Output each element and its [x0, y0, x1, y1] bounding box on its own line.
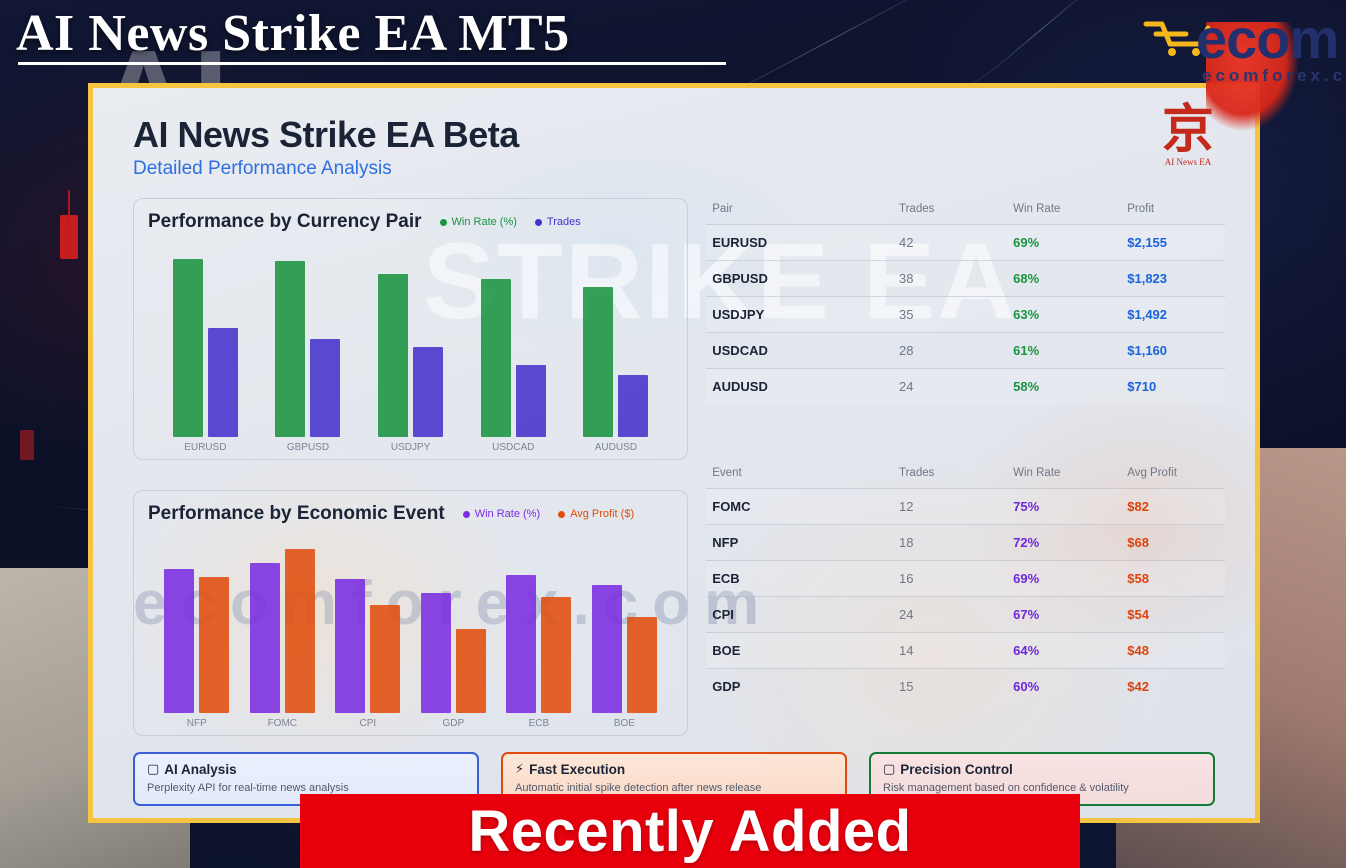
bar: [456, 629, 486, 713]
target-icon: ▢: [883, 762, 895, 777]
bar-group: [250, 531, 315, 713]
bar: [370, 605, 400, 713]
brand-domain: ecomforex.com: [1202, 66, 1346, 86]
table-row[interactable]: USDCAD2861%$1,160: [706, 333, 1225, 369]
cell-trades: 15: [893, 669, 1007, 705]
brand-wordmark: ecom: [1196, 6, 1338, 71]
cell-event: NFP: [706, 525, 893, 561]
cell-trades: 28: [893, 333, 1007, 369]
cell-avg-profit: $82: [1121, 489, 1225, 525]
bar: [592, 585, 622, 713]
cell-event: BOE: [706, 633, 893, 669]
bar: [275, 261, 305, 437]
dashboard-subtitle: Detailed Performance Analysis: [133, 158, 1225, 180]
tables-column: PairTradesWin RateProfit EURUSD4269%$2,1…: [706, 198, 1225, 736]
promo-title-underline: [18, 62, 726, 65]
bar-group: [481, 239, 546, 437]
legend-label: Win Rate (%): [475, 508, 540, 520]
economic-event-chart-title: Performance by Economic Event: [148, 503, 445, 525]
cell-win-rate: 75%: [1007, 489, 1121, 525]
bar: [164, 569, 194, 713]
bar-group: [421, 531, 486, 713]
lightning-bolt-icon: ⚡: [515, 762, 524, 777]
charts-column: Performance by Currency Pair Win Rate (%…: [133, 198, 688, 736]
cell-avg-profit: $48: [1121, 633, 1225, 669]
legend-dot-icon: [463, 511, 470, 518]
cell-win-rate: 67%: [1007, 597, 1121, 633]
legend-item-avg-profit: Avg Profit ($): [558, 508, 634, 520]
bar-group: [583, 239, 648, 437]
column-header: Win Rate: [1007, 462, 1121, 489]
bar: [618, 375, 648, 437]
promo-page: AI NEWS STRIKE EA AI News Strike EA MT5 …: [0, 0, 1346, 868]
feature-title: ▢AI Analysis: [147, 762, 465, 777]
bar: [310, 339, 340, 437]
bar-group: [335, 531, 400, 713]
axis-tick-label: CPI: [333, 718, 403, 729]
cell-avg-profit: $54: [1121, 597, 1225, 633]
cell-pair: USDCAD: [706, 333, 893, 369]
cell-event: FOMC: [706, 489, 893, 525]
bar-group: [164, 531, 229, 713]
axis-tick-label: GBPUSD: [273, 442, 343, 453]
cell-win-rate: 63%: [1007, 297, 1121, 333]
bar: [506, 575, 536, 713]
currency-pair-bars: [148, 239, 673, 437]
legend-item-win-rate: Win Rate (%): [440, 216, 517, 228]
cell-win-rate: 61%: [1007, 333, 1121, 369]
cell-avg-profit: $42: [1121, 669, 1225, 705]
brain-icon: ▢: [147, 762, 159, 777]
table-row[interactable]: FOMC1275%$82: [706, 489, 1225, 525]
table-row[interactable]: CPI2467%$54: [706, 597, 1225, 633]
bar-group: [173, 239, 238, 437]
economic-event-bars: [148, 531, 673, 713]
column-header: Event: [706, 462, 893, 489]
cell-event: GDP: [706, 669, 893, 705]
column-header: Avg Profit: [1121, 462, 1225, 489]
feature-title: ⚡Fast Execution: [515, 762, 833, 777]
cell-win-rate: 69%: [1007, 225, 1121, 261]
bar: [583, 287, 613, 437]
cell-pair: USDJPY: [706, 297, 893, 333]
bar: [541, 597, 571, 713]
currency-pair-chart-card: Performance by Currency Pair Win Rate (%…: [133, 198, 688, 460]
table-row[interactable]: USDJPY3563%$1,492: [706, 297, 1225, 333]
cell-avg-profit: $58: [1121, 561, 1225, 597]
economic-event-table: EventTradesWin RateAvg Profit FOMC1275%$…: [706, 462, 1225, 704]
column-header: Pair: [706, 198, 893, 225]
column-header: Profit: [1121, 198, 1225, 225]
feature-title: ▢Precision Control: [883, 762, 1201, 777]
axis-tick-label: EURUSD: [170, 442, 240, 453]
bar: [173, 259, 203, 437]
bar-group: [275, 239, 340, 437]
legend-label: Win Rate (%): [452, 216, 517, 228]
recently-added-label: Recently Added: [468, 798, 911, 865]
table-row[interactable]: GDP1560%$42: [706, 669, 1225, 705]
currency-pair-table: PairTradesWin RateProfit EURUSD4269%$2,1…: [706, 198, 1225, 404]
axis-tick-label: USDCAD: [478, 442, 548, 453]
cell-win-rate: 68%: [1007, 261, 1121, 297]
legend-dot-icon: [558, 511, 565, 518]
legend-item-trades: Trades: [535, 216, 581, 228]
cell-trades: 42: [893, 225, 1007, 261]
cell-trades: 38: [893, 261, 1007, 297]
cell-win-rate: 60%: [1007, 669, 1121, 705]
economic-event-chart-legend: Win Rate (%) Avg Profit ($): [463, 508, 634, 520]
bar: [285, 549, 315, 713]
cell-win-rate: 64%: [1007, 633, 1121, 669]
cell-trades: 24: [893, 369, 1007, 405]
legend-dot-icon: [440, 219, 447, 226]
table-row[interactable]: EURUSD4269%$2,155: [706, 225, 1225, 261]
legend-label: Avg Profit ($): [570, 508, 634, 520]
cell-trades: 14: [893, 633, 1007, 669]
bar: [378, 274, 408, 437]
legend-item-win-rate: Win Rate (%): [463, 508, 540, 520]
cell-profit: $2,155: [1121, 225, 1225, 261]
currency-pair-axis-labels: EURUSDGBPUSDUSDJPYUSDCADAUDUSD: [148, 442, 673, 453]
cell-trades: 24: [893, 597, 1007, 633]
column-header: Trades: [893, 198, 1007, 225]
bar: [208, 328, 238, 437]
axis-tick-label: FOMC: [247, 718, 317, 729]
seal-subtitle: AI News EA: [1143, 157, 1233, 167]
cell-trades: 18: [893, 525, 1007, 561]
column-header: Trades: [893, 462, 1007, 489]
bar-group: [378, 239, 443, 437]
cell-win-rate: 58%: [1007, 369, 1121, 405]
cell-profit: $1,823: [1121, 261, 1225, 297]
bar: [250, 563, 280, 713]
cell-event: CPI: [706, 597, 893, 633]
economic-event-chart-card: Performance by Economic Event Win Rate (…: [133, 490, 688, 736]
table-row[interactable]: AUDUSD2458%$710: [706, 369, 1225, 405]
bar: [481, 279, 511, 437]
economic-event-axis-labels: NFPFOMCCPIGDPECBBOE: [148, 718, 673, 729]
table-header-row: EventTradesWin RateAvg Profit: [706, 462, 1225, 489]
axis-tick-label: GDP: [418, 718, 488, 729]
table-header-row: PairTradesWin RateProfit: [706, 198, 1225, 225]
cell-win-rate: 69%: [1007, 561, 1121, 597]
axis-tick-label: AUDUSD: [581, 442, 651, 453]
cell-profit: $1,160: [1121, 333, 1225, 369]
cell-win-rate: 72%: [1007, 525, 1121, 561]
cell-profit: $710: [1121, 369, 1225, 405]
column-header: Win Rate: [1007, 198, 1121, 225]
table-row[interactable]: ECB1669%$58: [706, 561, 1225, 597]
cell-pair: GBPUSD: [706, 261, 893, 297]
feature-description: Automatic initial spike detection after …: [515, 782, 833, 794]
brand-logo[interactable]: ecom ecomforex.com: [1140, 4, 1340, 100]
bar: [627, 617, 657, 713]
bar-group: [592, 531, 657, 713]
bar: [516, 365, 546, 437]
feature-description: Risk management based on confidence & vo…: [883, 782, 1201, 794]
cell-trades: 35: [893, 297, 1007, 333]
bar: [413, 347, 443, 437]
cell-avg-profit: $68: [1121, 525, 1225, 561]
axis-tick-label: USDJPY: [376, 442, 446, 453]
feature-description: Perplexity API for real-time news analys…: [147, 782, 465, 794]
table-row[interactable]: NFP1872%$68: [706, 525, 1225, 561]
performance-dashboard: STRIKE EA ecomforex.com 京 AI News EA AI …: [88, 83, 1260, 823]
currency-pair-chart-title: Performance by Currency Pair: [148, 211, 422, 233]
table-row[interactable]: GBPUSD3868%$1,823: [706, 261, 1225, 297]
feature-title-label: Fast Execution: [529, 762, 625, 777]
bar: [199, 577, 229, 713]
axis-tick-label: ECB: [504, 718, 574, 729]
cell-profit: $1,492: [1121, 297, 1225, 333]
axis-tick-label: BOE: [589, 718, 659, 729]
bar-group: [506, 531, 571, 713]
legend-dot-icon: [535, 219, 542, 226]
cell-trades: 16: [893, 561, 1007, 597]
bar: [335, 579, 365, 713]
currency-pair-chart-legend: Win Rate (%) Trades: [440, 216, 581, 228]
bar: [421, 593, 451, 713]
axis-tick-label: NFP: [162, 718, 232, 729]
cell-pair: AUDUSD: [706, 369, 893, 405]
recently-added-banner: Recently Added: [300, 794, 1080, 868]
feature-title-label: AI Analysis: [164, 762, 236, 777]
table-row[interactable]: BOE1464%$48: [706, 633, 1225, 669]
promo-title: AI News Strike EA MT5: [16, 4, 570, 63]
feature-title-label: Precision Control: [900, 762, 1013, 777]
cell-pair: EURUSD: [706, 225, 893, 261]
cell-event: ECB: [706, 561, 893, 597]
cell-trades: 12: [893, 489, 1007, 525]
legend-label: Trades: [547, 216, 581, 228]
dashboard-title: AI News Strike EA Beta: [133, 114, 1225, 156]
